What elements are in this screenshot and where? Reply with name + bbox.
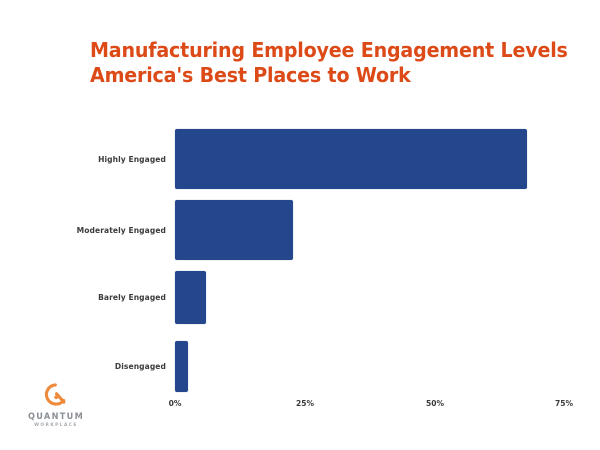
bar-barely-engaged[interactable] [175,271,206,324]
logo-wordmark: QUANTUM [26,412,87,422]
category-label-barely-engaged: Barely Engaged [28,292,166,302]
bar-row: Disengaged [0,341,600,392]
category-label-disengaged: Disengaged [28,361,166,371]
logo-subwordmark: WORKPLACE [26,422,87,429]
category-label-moderately-engaged: Moderately Engaged [28,225,166,235]
quantum-q-ring-icon [43,383,69,409]
bar-disengaged[interactable] [175,341,188,392]
x-axis-tick-25: 25% [277,398,332,408]
quantum-workplace-logo: QUANTUM WORKPLACE [24,383,88,429]
x-axis-tick-75: 75% [536,398,591,408]
x-axis-tick-50: 50% [407,398,462,408]
x-axis: 0% 25% 50% 75% [0,398,600,416]
bar-row: Highly Engaged [0,129,600,189]
bar-chart-plot-area: Highly Engaged Moderately Engaged Barely… [0,0,600,450]
bar-highly-engaged[interactable] [175,129,527,189]
bar-row: Barely Engaged [0,271,600,324]
category-label-highly-engaged: Highly Engaged [28,154,166,164]
bar-row: Moderately Engaged [0,200,600,260]
bar-moderately-engaged[interactable] [175,200,293,260]
x-axis-tick-0: 0% [147,398,202,408]
